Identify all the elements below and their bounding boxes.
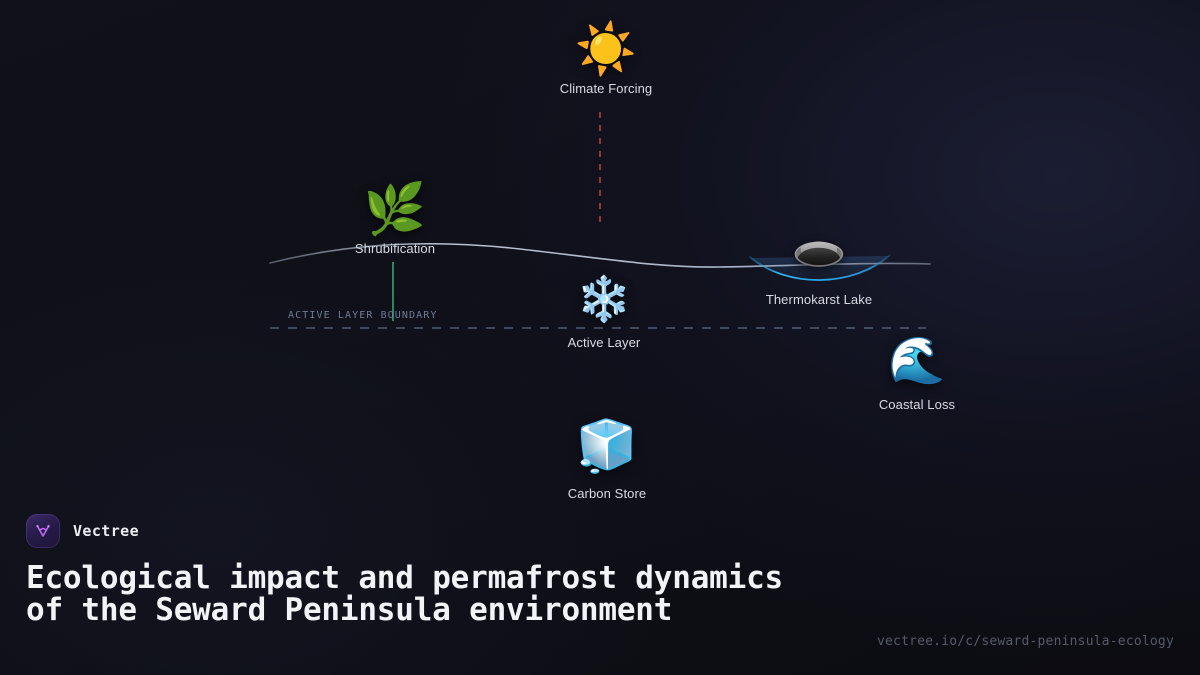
sun-icon: ☀️: [511, 24, 701, 74]
ice-cube-icon: 🧊: [512, 421, 702, 471]
node-label-active-layer: Active Layer: [509, 335, 699, 350]
brand-name: Vectree: [73, 522, 139, 540]
hole-icon: 🕳️: [724, 226, 914, 270]
node-coastal-loss[interactable]: 🌊 Coastal Loss: [822, 337, 1012, 412]
brand-row[interactable]: Vectree: [26, 514, 1174, 548]
footer: Vectree Ecological impact and permafrost…: [0, 490, 1200, 675]
node-label-thermokarst-lake: Thermokarst Lake: [724, 292, 914, 307]
snowflake-icon: ❄️: [509, 278, 699, 322]
node-shrubification[interactable]: 🌿 Shrubification: [300, 184, 490, 256]
page-title: Ecological impact and permafrost dynamic…: [26, 562, 786, 626]
node-label-shrubification: Shrubification: [300, 241, 490, 256]
node-climate-forcing[interactable]: ☀️ Climate Forcing: [511, 24, 701, 96]
active-layer-boundary-caption: ACTIVE LAYER BOUNDARY: [288, 310, 438, 321]
wave-icon: 🌊: [822, 337, 1012, 383]
herb-icon: 🌿: [300, 184, 490, 234]
node-active-layer[interactable]: ❄️ Active Layer: [509, 278, 699, 350]
vectree-logo-icon: [26, 514, 60, 548]
node-thermokarst-lake[interactable]: 🕳️ Thermokarst Lake: [724, 226, 914, 307]
site-url: vectree.io/c/seward-peninsula-ecology: [877, 634, 1174, 649]
node-carbon-store[interactable]: 🧊 Carbon Store: [512, 421, 702, 501]
node-label-coastal-loss: Coastal Loss: [822, 397, 1012, 412]
node-label-climate-forcing: Climate Forcing: [511, 81, 701, 96]
